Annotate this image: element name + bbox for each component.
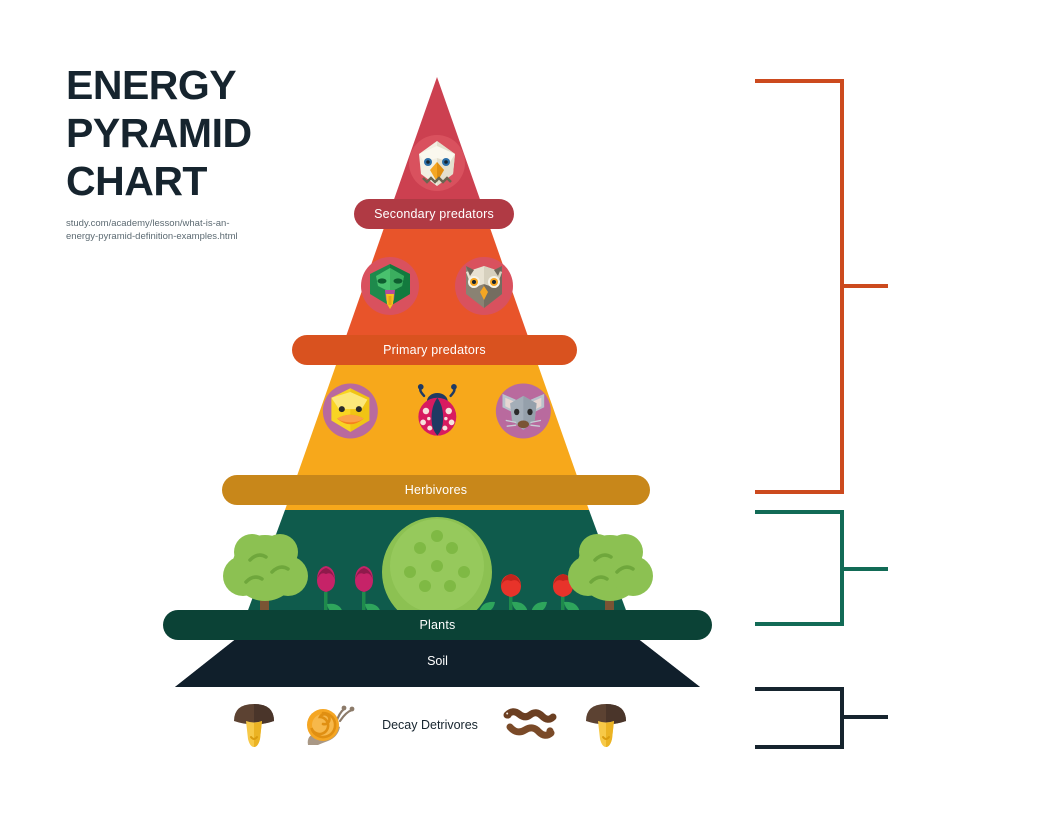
tier-label-herbivores: Herbivores xyxy=(222,475,650,505)
tier-label-plants: Plants xyxy=(163,610,712,640)
energy-pyramid: Secondary predators Primary predators He… xyxy=(0,0,760,816)
bracket-autotrophs xyxy=(755,512,888,624)
primary-predator-icons xyxy=(358,252,516,320)
mushroom-icon xyxy=(582,699,630,751)
snail-icon xyxy=(302,699,358,751)
secondary-predator-icons xyxy=(388,132,486,194)
ladybug-icon xyxy=(407,379,468,443)
legend-brackets xyxy=(740,0,1056,816)
bracket-heterotrophs-top xyxy=(755,81,888,492)
worm-icon xyxy=(502,705,558,745)
mouse-icon xyxy=(493,379,554,443)
eagle-icon xyxy=(406,132,468,194)
snake-icon xyxy=(358,254,422,318)
bracket-heterotrophs-bottom xyxy=(755,689,888,747)
herbivore-icons xyxy=(320,375,554,447)
tier-label-secondary-predators: Secondary predators xyxy=(354,199,514,229)
tier-label-soil: Soil xyxy=(175,654,700,668)
duck-icon xyxy=(320,379,381,443)
tier-label-primary-predators: Primary predators xyxy=(292,335,577,365)
decomposer-label: Decay Detrivores xyxy=(382,718,478,732)
decomposer-row: Decay Detrivores xyxy=(230,695,630,755)
trophic-group-legend: Heterotrophs Autotrophs Heterotrophs xyxy=(740,0,1056,816)
owl-icon xyxy=(452,254,516,318)
mushroom-icon xyxy=(230,699,278,751)
